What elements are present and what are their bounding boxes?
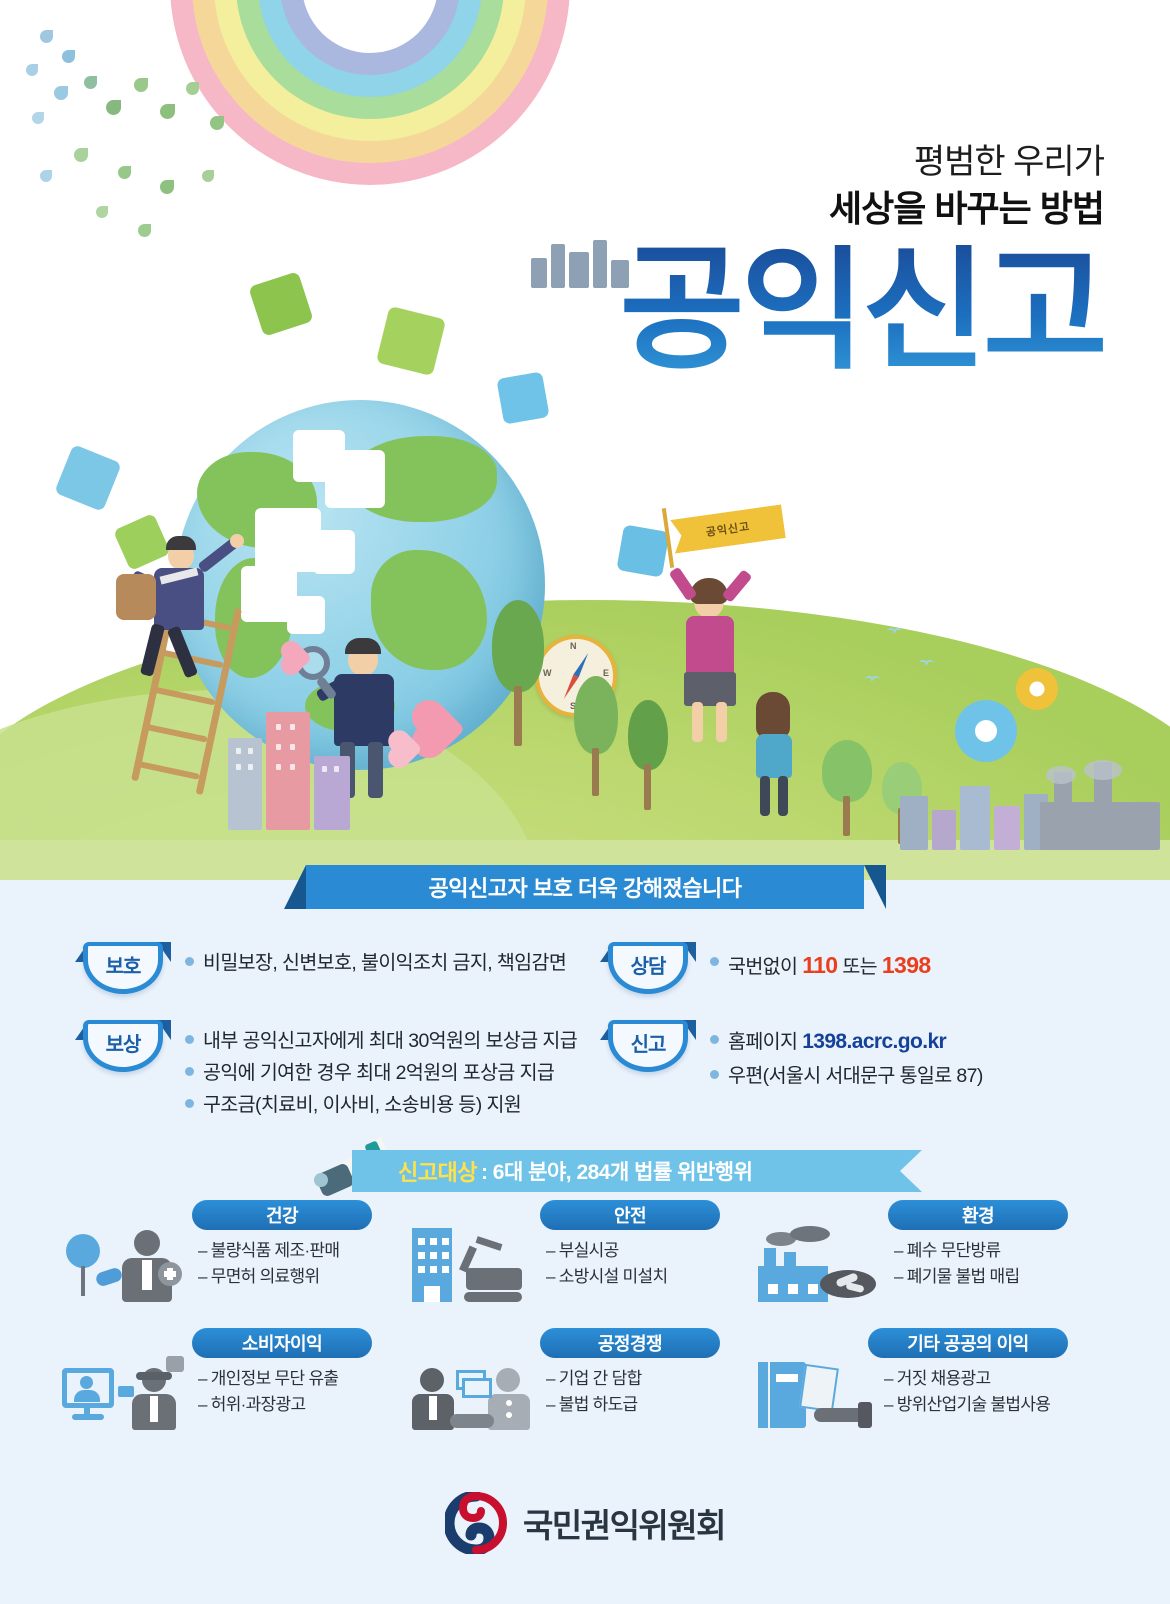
- category-title: 건강: [266, 1202, 298, 1228]
- person-climbing-icon: [110, 530, 240, 690]
- badge-consult-label: 상담: [631, 950, 666, 979]
- poster-root: 공익신고 N S W E: [0, 0, 1170, 1604]
- person-girl-icon: [740, 690, 810, 820]
- bullet-dot-icon: [710, 1035, 719, 1044]
- badge-reward-label: 보상: [106, 1028, 141, 1057]
- info-row-reward: 보상 내부 공익신고자에게 최대 30억원의 보상금 지급 공익에 기여한 경우…: [75, 1020, 615, 1123]
- bullets-protection: 비밀보장, 신변보호, 불이익조치 금지, 책임감면: [185, 942, 566, 980]
- info-row-report: 신고 홈페이지 1398.acrc.go.kr 우편(서울시 서대문구 통일로 …: [600, 1020, 1140, 1093]
- info-column-right: 상담 국번없이 110 또는 1398 신고: [600, 942, 1140, 1115]
- book-hand-icon: [758, 1354, 882, 1434]
- bullet-dot-icon: [185, 1099, 194, 1108]
- bullet-dot-icon: [185, 1035, 194, 1044]
- category-line: – 소방시설 미설치: [546, 1264, 667, 1290]
- report-target-highlight: 신고대상: [398, 1155, 477, 1187]
- hero-illustration: 공익신고 N S W E: [0, 0, 1170, 880]
- category-title-pill: 기타 공공의 이익: [868, 1328, 1068, 1358]
- category-card-fair-competition[interactable]: 공정경쟁 – 기업 간 담합 – 불법 하도급: [410, 1328, 720, 1443]
- badge-consult: 상담: [600, 942, 696, 998]
- website-url[interactable]: 1398.acrc.go.kr: [802, 1030, 946, 1053]
- page-title: 공익신고: [620, 245, 1104, 374]
- tree-icon: [490, 600, 546, 750]
- badge-reward: 보상: [75, 1020, 171, 1076]
- protection-banner-text: 공익신고자 보호 더욱 강해졌습니다: [429, 871, 742, 903]
- bullet-text: 구조금(치료비, 이사비, 소송비용 등) 지원: [203, 1090, 521, 1120]
- tree-icon: [820, 740, 874, 836]
- bullets-consult: 국번없이 110 또는 1398: [710, 942, 931, 986]
- bullets-report: 홈페이지 1398.acrc.go.kr 우편(서울시 서대문구 통일로 87): [710, 1020, 983, 1093]
- category-line: – 무면허 의료행위: [198, 1264, 339, 1290]
- factory-icon: [1040, 760, 1170, 850]
- footer: 국민권익위원회: [0, 1478, 1170, 1568]
- bird-icon: [886, 628, 904, 637]
- list-item: 우편(서울시 서대문구 통일로 87): [710, 1061, 983, 1091]
- website-prefix: 홈페이지: [728, 1031, 802, 1053]
- category-line: – 허위·과장광고: [198, 1392, 338, 1418]
- bullet-dot-icon: [185, 1067, 194, 1076]
- info-section: 공익신고자 보호 더욱 강해졌습니다 보호 비밀보장, 신변보호, 불이익조치 …: [0, 880, 1170, 1604]
- report-target-band: 신고대상 : 6대 분야, 284개 법률 위반행위: [0, 1138, 1170, 1198]
- list-item: 내부 공익신고자에게 최대 30억원의 보상금 지급: [185, 1026, 577, 1056]
- category-title-pill: 건강: [192, 1200, 372, 1230]
- category-line: – 불량식품 제조·판매: [198, 1238, 339, 1264]
- organization-name: 국민권익위원회: [523, 1499, 725, 1547]
- list-item: 공익에 기여한 경우 최대 2억원의 포상금 지급: [185, 1058, 577, 1088]
- category-title-pill: 환경: [888, 1200, 1068, 1230]
- protection-banner: 공익신고자 보호 더욱 강해졌습니다: [306, 865, 864, 909]
- category-line: – 폐수 무단방류: [894, 1238, 1019, 1264]
- bullet-text: 내부 공익신고자에게 최대 30억원의 보상금 지급: [203, 1026, 577, 1056]
- bird-icon: [864, 676, 882, 685]
- category-line: – 부실시공: [546, 1238, 667, 1264]
- category-card-consumer[interactable]: 소비자이익 – 개인정보 무단 유출 – 허위·과장광고: [62, 1328, 372, 1443]
- headline-line2: 세상을 바꾸는 방법: [620, 186, 1104, 233]
- consult-middle: 또는: [838, 956, 882, 978]
- category-line: – 폐기물 불법 매립: [894, 1264, 1019, 1290]
- report-target-banner: 신고대상 : 6대 분야, 284개 법률 위반행위: [352, 1150, 922, 1192]
- badge-protection-label: 보호: [106, 950, 141, 979]
- category-line: – 거짓 채용광고: [884, 1366, 1050, 1392]
- category-card-safety[interactable]: 안전 – 부실시공 – 소방시설 미설치: [410, 1200, 720, 1315]
- list-item: 비밀보장, 신변보호, 불이익조치 금지, 책임감면: [185, 948, 566, 978]
- bullet-text: 비밀보장, 신변보호, 불이익조치 금지, 책임감면: [203, 948, 566, 978]
- tree-icon: [572, 676, 620, 796]
- category-title: 환경: [962, 1202, 994, 1228]
- foliage-sprig-icon: [10, 20, 240, 270]
- phone-1398: 1398: [882, 952, 931, 978]
- category-card-environment[interactable]: 환경 – 폐수 무단방류 – 폐기물 불법 매립: [758, 1200, 1068, 1315]
- category-title: 소비자이익: [242, 1330, 322, 1356]
- category-line: – 방위산업기술 불법사용: [884, 1392, 1050, 1418]
- puzzle-piece-icon: [54, 444, 122, 512]
- bullet-dot-icon: [185, 957, 194, 966]
- category-title: 안전: [614, 1202, 646, 1228]
- category-card-other-public[interactable]: 기타 공공의 이익 – 거짓 채용광고 – 방위산업기술 불법사용: [758, 1328, 1068, 1443]
- bullet-dot-icon: [710, 1070, 719, 1079]
- building-excavator-icon: [410, 1226, 534, 1306]
- puzzle-piece-icon: [496, 371, 549, 424]
- city-buildings-right-icon: [900, 770, 1050, 850]
- list-item: 홈페이지 1398.acrc.go.kr: [710, 1026, 983, 1059]
- consult-prefix: 국번없이: [728, 956, 802, 978]
- government-logo-icon: [445, 1492, 507, 1554]
- factory-smoke-icon: [758, 1226, 882, 1306]
- category-title-pill: 공정경쟁: [540, 1328, 720, 1358]
- headline-block: 평범한 우리가 세상을 바꾸는 방법 공익신고: [620, 140, 1104, 374]
- report-target-rest: : 6대 분야, 284개 법률 위반행위: [481, 1156, 752, 1186]
- tree-icon: [626, 700, 670, 810]
- bird-icon: [918, 660, 936, 669]
- puzzle-piece-icon: [248, 271, 314, 337]
- phone-110: 110: [802, 952, 837, 978]
- bullet-text: 홈페이지 1398.acrc.go.kr: [728, 1026, 946, 1059]
- category-line: – 개인정보 무단 유출: [198, 1366, 338, 1392]
- gear-icon: [1016, 668, 1058, 710]
- category-title: 기타 공공의 이익: [907, 1330, 1028, 1356]
- puzzle-piece-icon: [376, 306, 446, 376]
- badge-report-label: 신고: [631, 1028, 666, 1057]
- category-line: – 기업 간 담합: [546, 1366, 642, 1392]
- candy-doctor-icon: [62, 1226, 186, 1306]
- flag-banner: 공익신고: [670, 504, 786, 553]
- city-buildings-icon: [228, 700, 358, 830]
- info-row-protection: 보호 비밀보장, 신변보호, 불이익조치 금지, 책임감면: [75, 942, 615, 998]
- bullet-dot-icon: [710, 957, 719, 966]
- monitor-agent-icon: [62, 1354, 186, 1434]
- flag-label: 공익신고: [705, 518, 751, 540]
- info-column-left: 보호 비밀보장, 신변보호, 불이익조치 금지, 책임감면 보상: [75, 942, 615, 1145]
- badge-protection: 보호: [75, 942, 171, 998]
- info-row-consult: 상담 국번없이 110 또는 1398: [600, 942, 1140, 998]
- headline-line1: 평범한 우리가: [620, 140, 1104, 186]
- category-line: – 불법 하도급: [546, 1392, 642, 1418]
- category-card-health[interactable]: 건강 – 불량식품 제조·판매 – 무면허 의료행위: [62, 1200, 372, 1315]
- bullet-text: 우편(서울시 서대문구 통일로 87): [728, 1061, 983, 1091]
- list-item: 국번없이 110 또는 1398: [710, 948, 931, 984]
- handshake-money-icon: [410, 1354, 534, 1434]
- category-title: 공정경쟁: [598, 1330, 662, 1356]
- bullet-text: 공익에 기여한 경우 최대 2억원의 포상금 지급: [203, 1058, 554, 1088]
- badge-report: 신고: [600, 1020, 696, 1076]
- gear-icon: [955, 700, 1017, 762]
- list-item: 구조금(치료비, 이사비, 소송비용 등) 지원: [185, 1090, 577, 1120]
- category-title-pill: 소비자이익: [192, 1328, 372, 1358]
- bullets-reward: 내부 공익신고자에게 최대 30억원의 보상금 지급 공익에 기여한 경우 최대…: [185, 1020, 577, 1123]
- bullet-text: 국번없이 110 또는 1398: [728, 948, 931, 984]
- category-title-pill: 안전: [540, 1200, 720, 1230]
